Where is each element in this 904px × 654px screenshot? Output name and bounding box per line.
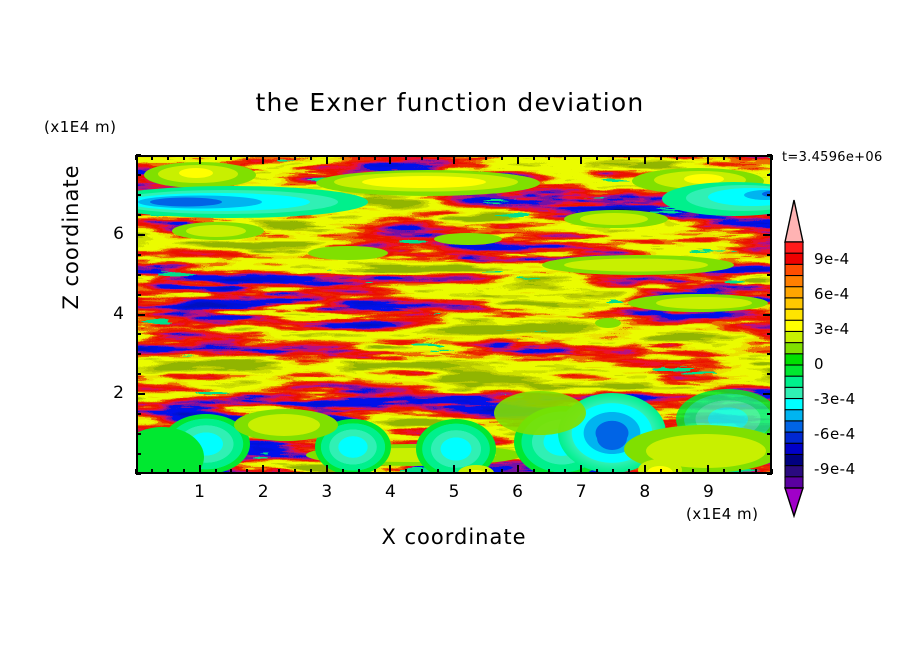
colorbar-swatches: [781, 198, 807, 518]
x-minor-tick: [755, 469, 757, 474]
colorbar-segment: [785, 343, 803, 355]
x-minor-tick: [421, 469, 423, 474]
x-minor-tick-top: [230, 155, 232, 160]
colorbar-segment: [785, 253, 803, 265]
x-minor-tick: [183, 469, 185, 474]
colorbar-segment: [785, 454, 803, 466]
x-tick-label: 4: [370, 482, 410, 502]
x-major-tick-top: [389, 155, 391, 164]
x-major-tick: [326, 465, 328, 474]
x-minor-tick-top: [278, 155, 280, 160]
colorbar-tick-label: -3e-4: [814, 390, 856, 408]
x-tick-label: 3: [307, 482, 347, 502]
x-major-tick-top: [326, 155, 328, 164]
x-minor-tick: [167, 469, 169, 474]
x-minor-tick-top: [660, 155, 662, 160]
y-minor-tick: [136, 413, 141, 415]
y-minor-tick: [136, 254, 141, 256]
colorbar-segment: [785, 421, 803, 433]
x-minor-tick-top: [612, 155, 614, 160]
y-minor-tick: [136, 214, 141, 216]
y-minor-tick-right: [767, 174, 772, 176]
contour-field: [138, 157, 772, 474]
y-minor-tick-right: [767, 413, 772, 415]
x-minor-tick-top: [469, 155, 471, 160]
y-minor-tick: [136, 274, 141, 276]
feature-isolated-patch: [595, 318, 621, 328]
x-minor-tick-top: [723, 155, 725, 160]
colorbar-segment: [785, 264, 803, 276]
x-major-tick: [580, 465, 582, 474]
x-minor-tick: [358, 469, 360, 474]
x-minor-tick: [660, 469, 662, 474]
y-minor-tick: [136, 154, 141, 156]
x-minor-tick-top: [564, 155, 566, 160]
x-minor-tick-top: [246, 155, 248, 160]
x-major-tick-top: [707, 155, 709, 164]
x-minor-tick: [485, 469, 487, 474]
x-major-tick-top: [644, 155, 646, 164]
colorbar-tick-label: 0: [814, 355, 824, 373]
x-minor-tick: [548, 469, 550, 474]
x-minor-tick-top: [421, 155, 423, 160]
colorbar: [781, 198, 807, 518]
feature-topleft-yellow-patch: [144, 162, 256, 188]
x-minor-tick: [405, 469, 407, 474]
x-minor-tick-top: [183, 155, 185, 160]
x-major-tick-top: [453, 155, 455, 164]
colorbar-segment: [785, 466, 803, 478]
y-major-tick: [136, 393, 145, 395]
x-minor-tick: [628, 469, 630, 474]
x-minor-tick-top: [533, 155, 535, 160]
x-minor-tick-top: [501, 155, 503, 160]
x-major-tick-top: [517, 155, 519, 164]
x-minor-tick-top: [548, 155, 550, 160]
x-minor-tick: [564, 469, 566, 474]
colorbar-segment: [785, 331, 803, 343]
y-minor-tick: [136, 373, 141, 375]
colorbar-tick-label: -9e-4: [814, 460, 856, 478]
x-major-tick: [517, 465, 519, 474]
y-tick-label: 2: [96, 383, 124, 403]
x-minor-tick: [278, 469, 280, 474]
x-minor-tick: [310, 469, 312, 474]
feature-green-wedge: [494, 391, 586, 435]
y-minor-tick: [136, 433, 141, 435]
colorbar-segment: [785, 298, 803, 310]
x-minor-tick-top: [405, 155, 407, 160]
x-minor-tick: [151, 469, 153, 474]
x-minor-tick-top: [151, 155, 153, 160]
x-minor-tick: [676, 469, 678, 474]
x-minor-tick-top: [755, 155, 757, 160]
y-major-tick-right: [763, 314, 772, 316]
x-minor-tick: [596, 469, 598, 474]
y-minor-tick-right: [767, 194, 772, 196]
x-tick-label: 2: [243, 482, 283, 502]
x-tick-label: 7: [561, 482, 601, 502]
x-minor-tick-top: [676, 155, 678, 160]
x-minor-tick-top: [310, 155, 312, 160]
y-tick-label: 4: [96, 304, 124, 324]
y-minor-tick-right: [767, 373, 772, 375]
x-axis-unit-label: (x1E4 m): [686, 505, 759, 523]
colorbar-tick-label: 3e-4: [814, 320, 850, 338]
x-minor-tick: [612, 469, 614, 474]
feature-top-yellow-streak: [316, 170, 540, 196]
colorbar-under-arrow: [785, 488, 803, 516]
colorbar-segment: [785, 365, 803, 377]
colorbar-segment: [785, 443, 803, 455]
colorbar-tick-label: -6e-4: [814, 425, 856, 443]
x-minor-tick-top: [167, 155, 169, 160]
y-minor-tick: [136, 453, 141, 455]
x-tick-label: 1: [180, 482, 220, 502]
x-minor-tick-top: [342, 155, 344, 160]
y-minor-tick-right: [767, 473, 772, 475]
x-minor-tick-top: [485, 155, 487, 160]
colorbar-segment: [785, 387, 803, 399]
y-minor-tick: [136, 174, 141, 176]
x-tick-label: 8: [625, 482, 665, 502]
x-minor-tick-top: [739, 155, 741, 160]
x-minor-tick-top: [628, 155, 630, 160]
page-title: the Exner function deviation: [40, 88, 860, 117]
x-minor-tick-top: [374, 155, 376, 160]
x-major-tick: [644, 465, 646, 474]
colorbar-segment: [785, 432, 803, 444]
x-minor-tick-top: [294, 155, 296, 160]
y-minor-tick-right: [767, 254, 772, 256]
x-minor-tick: [437, 469, 439, 474]
y-minor-tick-right: [767, 294, 772, 296]
colorbar-segment: [785, 320, 803, 332]
x-minor-tick: [374, 469, 376, 474]
x-minor-tick: [501, 469, 503, 474]
y-minor-tick: [136, 333, 141, 335]
x-minor-tick: [215, 469, 217, 474]
y-minor-tick-right: [767, 274, 772, 276]
x-tick-label: 9: [688, 482, 728, 502]
x-minor-tick: [294, 469, 296, 474]
x-major-tick-top: [199, 155, 201, 164]
y-major-tick: [136, 314, 145, 316]
y-major-tick-right: [763, 234, 772, 236]
x-minor-tick: [723, 469, 725, 474]
x-minor-tick: [692, 469, 694, 474]
x-minor-tick: [469, 469, 471, 474]
timestamp-annotation: t=3.4596e+06: [782, 150, 883, 165]
feature-bottomleft-yellowgreen-patch: [234, 409, 338, 441]
y-major-tick: [136, 234, 145, 236]
x-minor-tick: [342, 469, 344, 474]
y-minor-tick: [136, 194, 141, 196]
x-minor-tick-top: [215, 155, 217, 160]
x-tick-label: 5: [434, 482, 474, 502]
y-minor-tick-right: [767, 214, 772, 216]
y-minor-tick-right: [767, 333, 772, 335]
colorbar-segment: [785, 354, 803, 366]
x-major-tick: [707, 465, 709, 474]
colorbar-over-arrow: [785, 200, 803, 242]
colorbar-segment: [785, 477, 803, 489]
x-major-tick: [262, 465, 264, 474]
x-minor-tick-top: [437, 155, 439, 160]
x-minor-tick: [533, 469, 535, 474]
colorbar-segment: [785, 276, 803, 288]
y-tick-label: 6: [96, 224, 124, 244]
colorbar-tick-label: 6e-4: [814, 285, 850, 303]
colorbar-segment: [785, 376, 803, 388]
y-axis-title: Z coordinate: [59, 147, 83, 327]
x-minor-tick: [739, 469, 741, 474]
colorbar-segment: [785, 287, 803, 299]
y-minor-tick: [136, 294, 141, 296]
x-minor-tick-top: [596, 155, 598, 160]
colorbar-tick-label: 9e-4: [814, 250, 850, 268]
x-minor-tick: [246, 469, 248, 474]
x-minor-tick-top: [358, 155, 360, 160]
y-minor-tick: [136, 473, 141, 475]
y-axis-unit-label: (x1E4 m): [44, 118, 117, 136]
x-major-tick: [453, 465, 455, 474]
x-minor-tick-top: [692, 155, 694, 160]
x-major-tick-top: [580, 155, 582, 164]
y-minor-tick-right: [767, 433, 772, 435]
contour-plot-area: [136, 155, 772, 474]
y-minor-tick: [136, 353, 141, 355]
y-minor-tick-right: [767, 453, 772, 455]
x-tick-label: 6: [498, 482, 538, 502]
x-minor-tick: [230, 469, 232, 474]
y-major-tick-right: [763, 393, 772, 395]
colorbar-segment: [785, 242, 803, 254]
x-axis-title: X coordinate: [136, 525, 772, 549]
x-major-tick-top: [262, 155, 264, 164]
x-major-tick: [199, 465, 201, 474]
x-major-tick: [389, 465, 391, 474]
y-minor-tick-right: [767, 353, 772, 355]
colorbar-segment: [785, 410, 803, 422]
colorbar-segment: [785, 309, 803, 321]
y-minor-tick-right: [767, 154, 772, 156]
colorbar-segment: [785, 399, 803, 411]
